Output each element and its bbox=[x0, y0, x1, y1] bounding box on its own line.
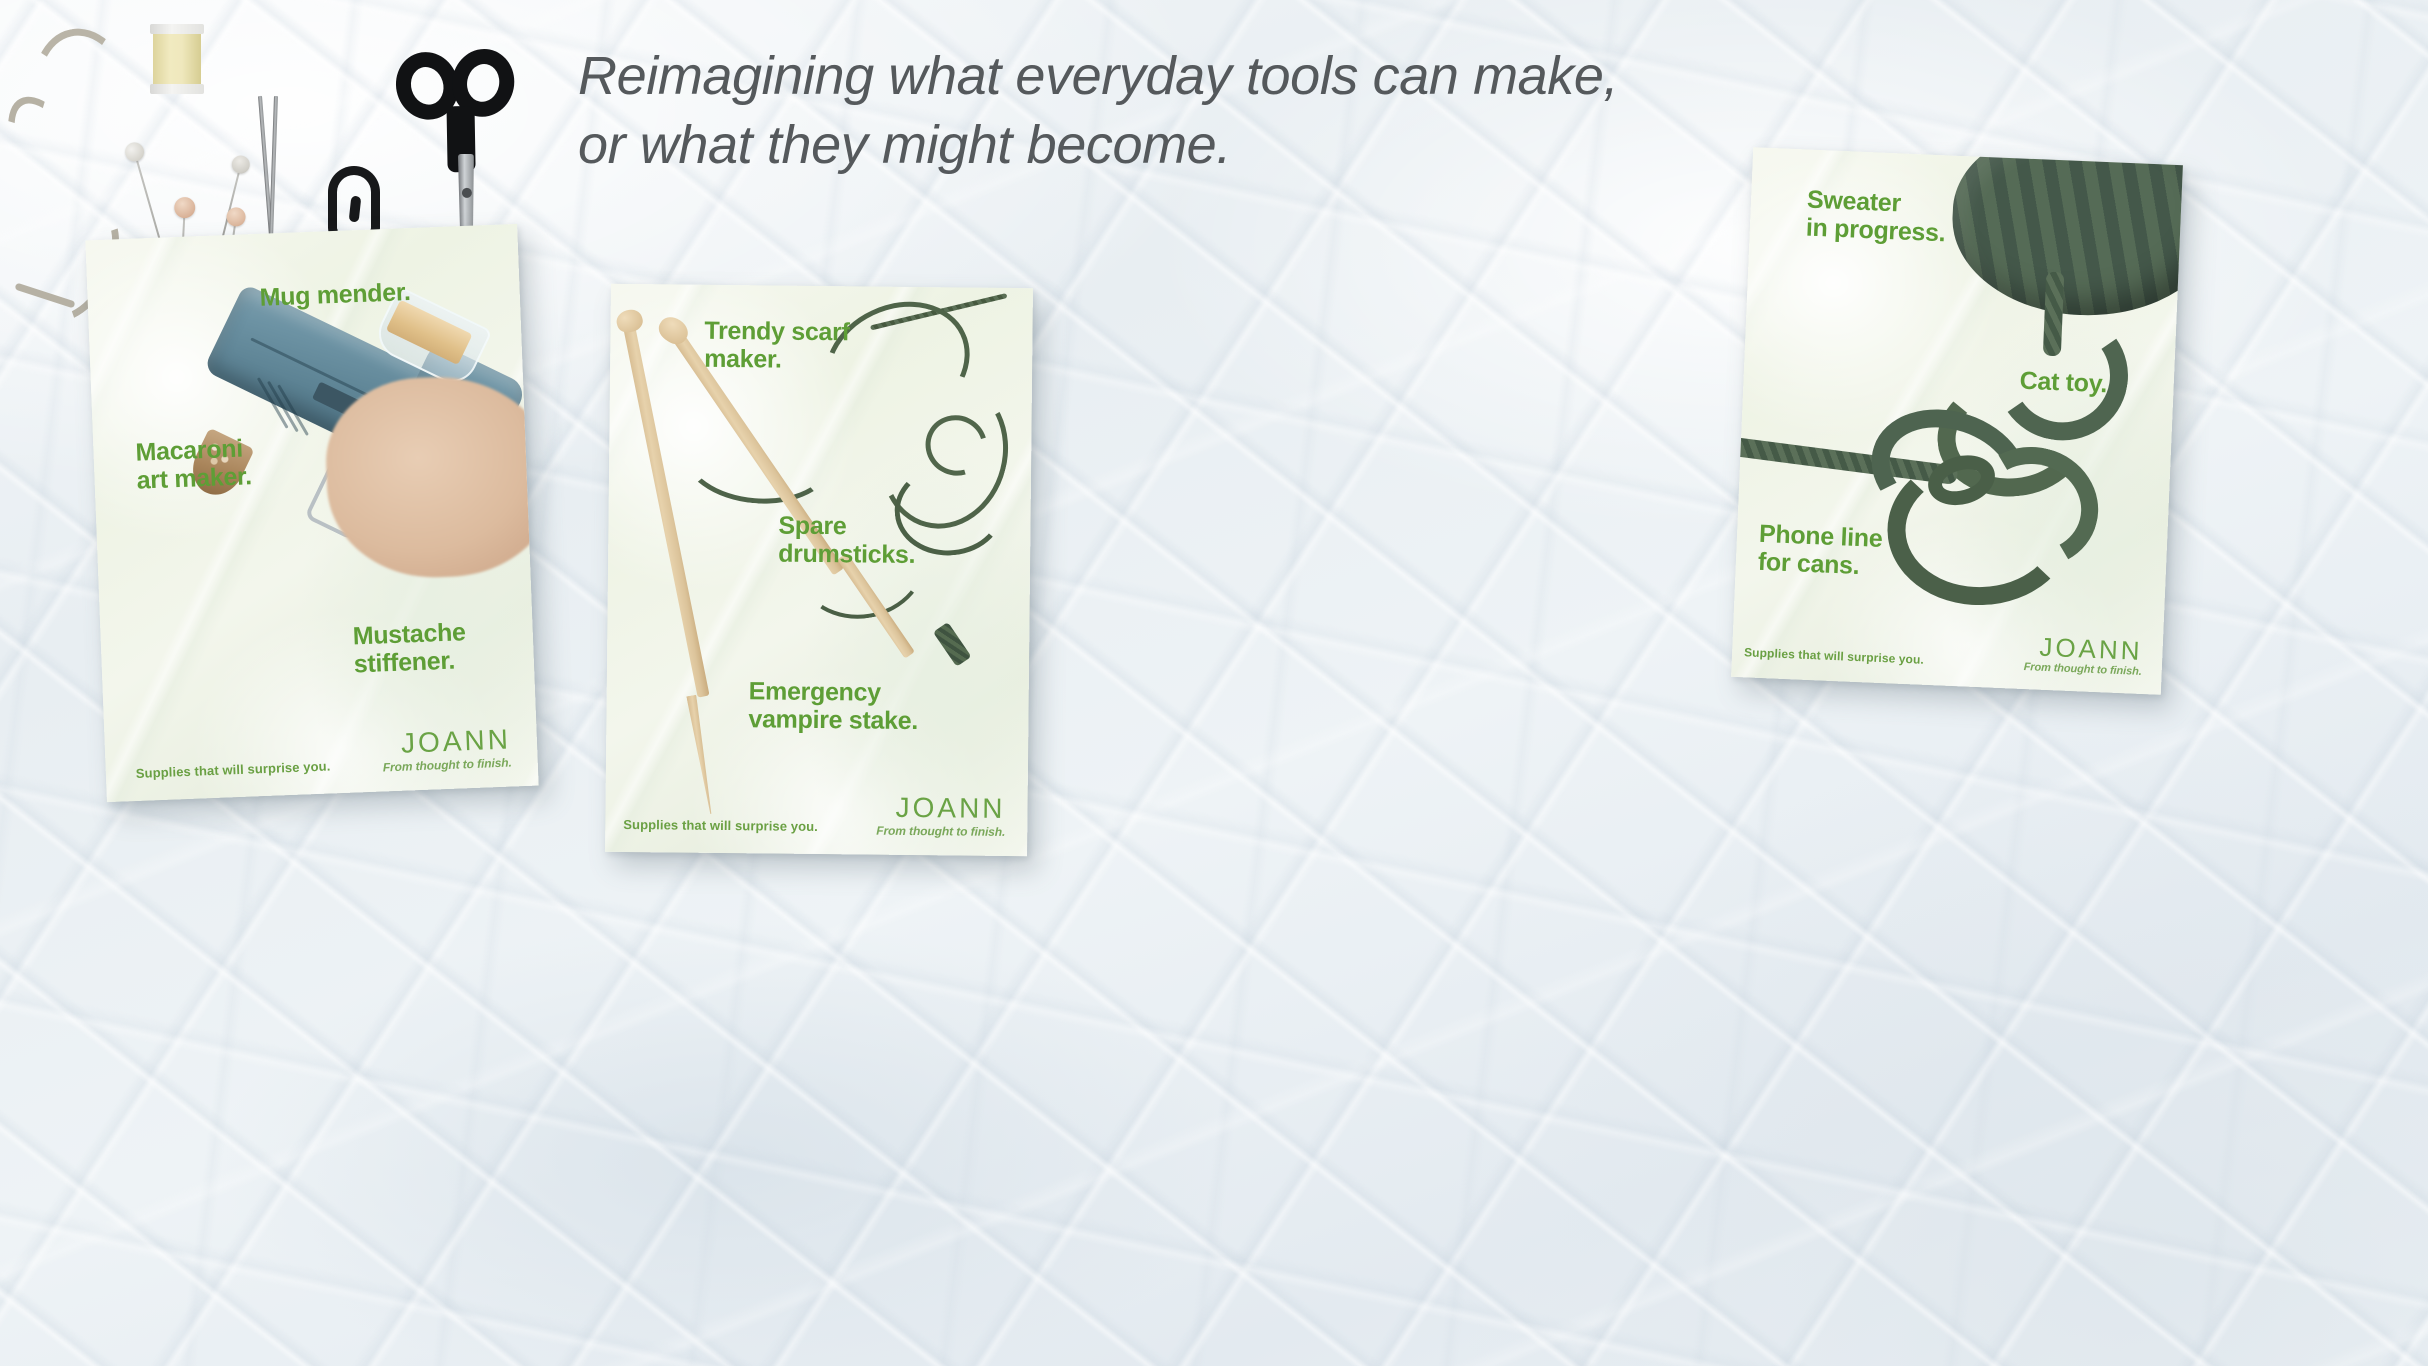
tag-sweater-in-progress: Sweater in progress. bbox=[1805, 186, 1947, 248]
joann-logo: JOANN From thought to finish. bbox=[2023, 633, 2143, 678]
poster-yarn-rope[interactable]: Sweater in progress. Cat toy. Phone line… bbox=[1731, 147, 2183, 695]
tag-macaroni-art-maker: Macaroni art maker. bbox=[135, 434, 252, 494]
joann-logo-wordmark: JOANN bbox=[2024, 633, 2143, 664]
yarn-wrapped-on-needle bbox=[933, 622, 972, 667]
joann-logo: JOANN From thought to finish. bbox=[876, 794, 1005, 838]
glue-gun-illustration bbox=[85, 224, 538, 802]
tag-phone-line-for-cans: Phone line for cans. bbox=[1757, 520, 1883, 581]
tag-mug-mender: Mug mender. bbox=[259, 278, 411, 312]
joann-logo: JOANN From thought to finish. bbox=[381, 726, 512, 774]
joann-logo-wordmark: JOANN bbox=[381, 726, 511, 759]
poster-glue-gun[interactable]: Mug mender. Macaroni art maker. Mustache… bbox=[85, 224, 538, 802]
tag-cat-toy: Cat toy. bbox=[2019, 367, 2108, 399]
tag-emergency-vampire-stake: Emergency vampire stake. bbox=[748, 677, 918, 735]
hand-holding-glue-gun bbox=[323, 373, 539, 582]
tag-spare-drumsticks: Spare drumsticks. bbox=[778, 512, 916, 569]
joann-logo-tagline: From thought to finish. bbox=[2023, 662, 2141, 678]
advertisement-canvas: Reimagining what everyday tools can make… bbox=[0, 0, 2428, 1366]
knitting-needle bbox=[623, 323, 710, 698]
knitting-needle-cap bbox=[614, 307, 645, 335]
knitting-needle-tip bbox=[686, 695, 715, 815]
thread-spool-icon bbox=[153, 28, 201, 90]
joann-logo-tagline: From thought to finish. bbox=[876, 825, 1005, 838]
poster-knitting-needles[interactable]: Trendy scarf maker. Spare drumsticks. Em… bbox=[605, 284, 1033, 856]
poster-footer-note: Supplies that will surprise you. bbox=[623, 817, 818, 834]
joann-logo-wordmark: JOANN bbox=[876, 794, 1005, 823]
page-headline: Reimagining what everyday tools can make… bbox=[578, 42, 1898, 180]
tag-trendy-scarf-maker: Trendy scarf maker. bbox=[704, 317, 850, 375]
yarn-ball bbox=[1949, 147, 2183, 321]
poster-footer-note: Supplies that will surprise you. bbox=[1744, 645, 1924, 667]
tag-mustache-stiffener: Mustache stiffener. bbox=[352, 618, 467, 678]
